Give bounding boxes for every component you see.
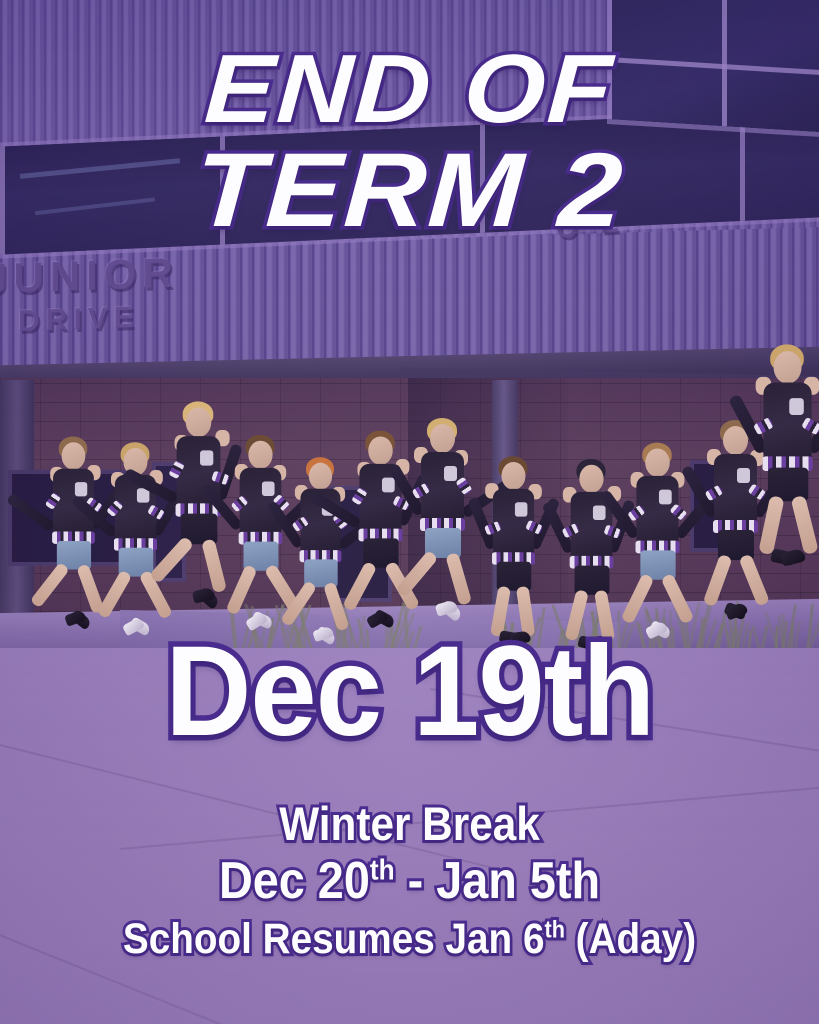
student-leg-left — [225, 564, 257, 615]
student-shoe-right — [245, 611, 268, 632]
student-jacket-patch — [444, 466, 457, 481]
student-head — [774, 351, 802, 383]
student-shoe-right — [587, 635, 609, 650]
student-figure — [162, 401, 233, 636]
student-figure — [40, 437, 107, 656]
student-head — [501, 462, 525, 490]
student-leg-right — [594, 590, 615, 642]
sidewalk-joint — [120, 782, 819, 850]
student-jacket-patch — [75, 482, 87, 496]
student-jacket-patch — [515, 502, 527, 516]
student-figure — [346, 431, 415, 656]
student-head — [430, 424, 455, 453]
student-jacket-patch — [200, 450, 213, 465]
student-head — [309, 463, 332, 490]
student-leg-left — [490, 586, 511, 637]
student-leg-right — [201, 539, 227, 594]
student-figure — [623, 443, 692, 668]
student-figure — [748, 344, 819, 602]
student-figure — [479, 456, 546, 677]
student-leg-left — [703, 554, 733, 607]
student-jacket-patch — [593, 505, 606, 520]
student-head — [579, 465, 603, 493]
student-figure — [287, 457, 352, 671]
student-leg-left — [342, 561, 377, 612]
student-jacket-patch — [382, 478, 395, 493]
student-head — [645, 448, 670, 476]
student-leg-left — [96, 570, 132, 619]
foreground-sidewalk — [0, 648, 819, 1024]
student-head — [248, 441, 272, 469]
student-leg-left — [758, 495, 784, 555]
student-leg-left — [564, 589, 588, 641]
student-figure — [407, 418, 477, 648]
student-head — [368, 436, 393, 464]
student-figure — [226, 435, 294, 658]
student-figure — [557, 459, 625, 682]
student-jacket-patch — [262, 481, 275, 496]
poster-canvas: JUNIOR DRIVE O L END OF TERM 2 — [0, 0, 819, 1024]
sidewalk-joint — [0, 734, 504, 871]
student-leg-right — [445, 552, 472, 606]
student-leg-right — [791, 495, 819, 555]
sidewalk-joint — [430, 688, 819, 756]
sidewalk-joint — [0, 910, 515, 1024]
student-head — [62, 442, 86, 470]
student-leg-left — [621, 573, 655, 624]
student-leg-right — [516, 586, 535, 637]
student-head — [186, 408, 212, 438]
student-jacket-patch — [789, 398, 804, 415]
student-jacket-patch — [659, 490, 672, 505]
student-leg-right — [661, 573, 695, 624]
student-shoe-right — [510, 631, 532, 645]
